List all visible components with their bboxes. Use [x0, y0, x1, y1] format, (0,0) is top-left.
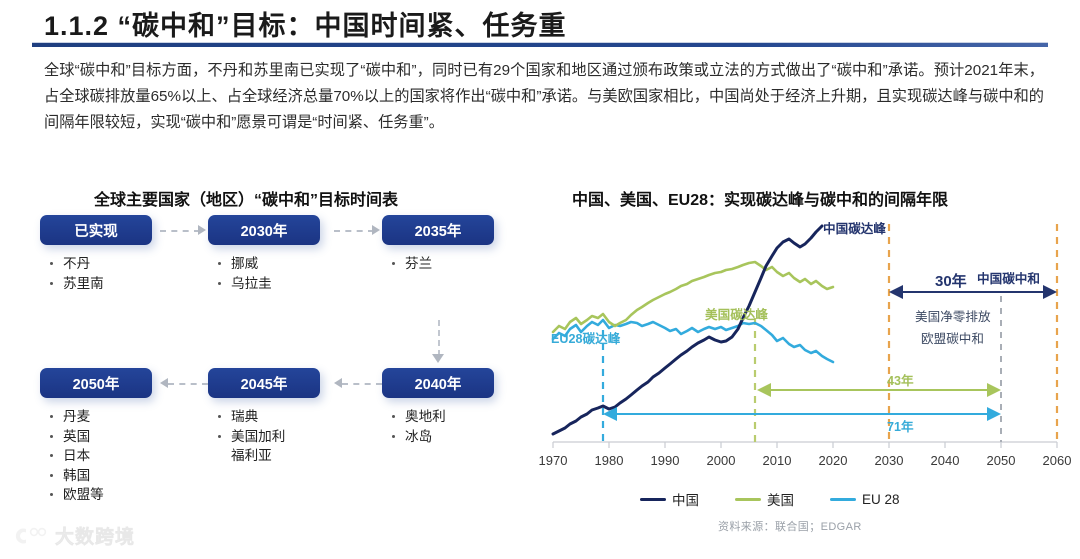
x-tick-label: 2050	[987, 453, 1016, 468]
page-title: 1.1.2 “碳中和”目标：中国时间紧、任务重	[44, 4, 567, 43]
brand-logo-icon	[14, 525, 48, 547]
body-paragraph-text: 全球“碳中和”目标方面，不丹和苏里南已实现了“碳中和”，同时已有29个国家和地区…	[44, 58, 1044, 136]
annotation-us-peak: 美国碳达峰	[705, 304, 768, 323]
source-note: 资料来源：联合国；EDGAR	[718, 518, 862, 534]
list-item: 美国加利 福利亚	[216, 427, 358, 466]
legend-label: EU 28	[862, 492, 900, 507]
legend-label: 中国	[672, 489, 699, 509]
list-item: 欧盟等	[48, 485, 190, 505]
list-item: 乌拉圭	[216, 274, 358, 294]
timeline-node-4-list: 瑞典 美国加利 福利亚	[208, 407, 358, 466]
timeline-node-1-label[interactable]: 2030年	[208, 215, 320, 245]
list-item: 苏里南	[48, 274, 190, 294]
series-line-us	[553, 262, 833, 332]
timeline-node-1-list: 挪威 乌拉圭	[208, 254, 358, 293]
watermark-text: 大数跨境	[55, 522, 135, 549]
timeline-node-0[interactable]: 已实现 不丹 苏里南	[40, 215, 190, 293]
x-tick-label: 2040	[931, 453, 960, 468]
legend-swatch-icon	[640, 498, 666, 501]
arrow-head-down-icon	[432, 354, 444, 363]
connector-arrow-5-4	[342, 383, 382, 385]
timeline-node-5[interactable]: 2040年 奥地利 冰岛	[382, 368, 532, 446]
timeline-node-5-label[interactable]: 2040年	[382, 368, 494, 398]
connector-arrow-1-2	[334, 230, 374, 232]
timeline-node-3-list: 丹麦 英国 日本 韩国 欧盟等	[40, 407, 190, 505]
x-axis-ticks	[553, 442, 1057, 448]
connector-arrow-4-3	[168, 383, 208, 385]
x-tick-label: 1990	[651, 453, 680, 468]
list-item: 挪威	[216, 254, 358, 274]
body-paragraph: 全球“碳中和”目标方面，不丹和苏里南已实现了“碳中和”，同时已有29个国家和地区…	[44, 58, 1044, 136]
timeline-node-5-list: 奥地利 冰岛	[382, 407, 532, 446]
annotation-china-neutral: 中国碳中和	[977, 268, 1040, 287]
list-item: 英国	[48, 427, 190, 447]
legend-label: 美国	[767, 489, 794, 509]
timeline-node-2-list: 芬兰	[382, 254, 532, 274]
timeline-node-1[interactable]: 2030年 挪威 乌拉圭	[208, 215, 358, 293]
list-item: 奥地利	[390, 407, 532, 427]
annotation-eu-peak: EU28碳达峰	[551, 328, 620, 347]
list-item: 冰岛	[390, 427, 532, 447]
chart-svg	[545, 210, 1065, 460]
legend-swatch-icon	[735, 498, 761, 501]
annotation-china-peak: 中国碳达峰	[823, 218, 886, 237]
annotation-gap-eu: 71年	[887, 416, 914, 435]
arrow-head-left-icon	[334, 378, 342, 388]
list-item: 瑞典	[216, 407, 358, 427]
x-tick-label: 2010	[763, 453, 792, 468]
title-divider	[32, 42, 1048, 47]
x-tick-label: 2000	[707, 453, 736, 468]
annotation-gap-china: 30年	[935, 270, 967, 291]
emissions-line-chart: 1970 1980 1990 2000 2010 2020 2030 2040 …	[545, 210, 1065, 500]
connector-arrow-2-5	[438, 320, 440, 356]
legend-item-china[interactable]: 中国	[640, 489, 699, 509]
x-tick-label: 1970	[539, 453, 568, 468]
annotation-gap-us: 43年	[887, 370, 914, 389]
timeline-node-4-label[interactable]: 2045年	[208, 368, 320, 398]
legend-item-eu28[interactable]: EU 28	[830, 492, 900, 507]
annotation-us-netzero: 美国净零排放	[915, 306, 991, 325]
list-item: 不丹	[48, 254, 190, 274]
timeline-node-0-list: 不丹 苏里南	[40, 254, 190, 293]
x-tick-label: 2020	[819, 453, 848, 468]
chart-legend: 中国 美国 EU 28	[640, 489, 900, 509]
list-item: 芬兰	[390, 254, 532, 274]
right-panel-title: 中国、美国、EU28：实现碳达峰与碳中和的间隔年限	[572, 186, 948, 210]
timeline-node-0-label[interactable]: 已实现	[40, 215, 152, 245]
x-tick-label: 1980	[595, 453, 624, 468]
arrow-head-left-icon	[160, 378, 168, 388]
slide-page: 1.1.2 “碳中和”目标：中国时间紧、任务重 全球“碳中和”目标方面，不丹和苏…	[0, 0, 1080, 559]
legend-swatch-icon	[830, 498, 856, 501]
timeline-node-3[interactable]: 2050年 丹麦 英国 日本 韩国 欧盟等	[40, 368, 190, 505]
left-panel-title: 全球主要国家（地区）“碳中和”目标时间表	[94, 186, 398, 210]
x-tick-label: 2030	[875, 453, 904, 468]
list-item: 丹麦	[48, 407, 190, 427]
connector-arrow-0-1	[160, 230, 200, 232]
timeline-node-2-label[interactable]: 2035年	[382, 215, 494, 245]
arrow-head-right-icon	[198, 225, 206, 235]
watermark: 大数跨境	[14, 522, 135, 549]
timeline-node-2[interactable]: 2035年 芬兰	[382, 215, 532, 274]
x-tick-label: 2060	[1043, 453, 1072, 468]
carbon-neutral-timeline: 已实现 不丹 苏里南 2030年 挪威 乌拉圭 2035年 芬兰	[40, 215, 540, 535]
arrow-head-right-icon	[372, 225, 380, 235]
legend-item-us[interactable]: 美国	[735, 489, 794, 509]
timeline-node-3-label[interactable]: 2050年	[40, 368, 152, 398]
list-item: 日本	[48, 446, 190, 466]
annotation-eu-neutral: 欧盟碳中和	[921, 328, 984, 347]
list-item: 韩国	[48, 466, 190, 486]
